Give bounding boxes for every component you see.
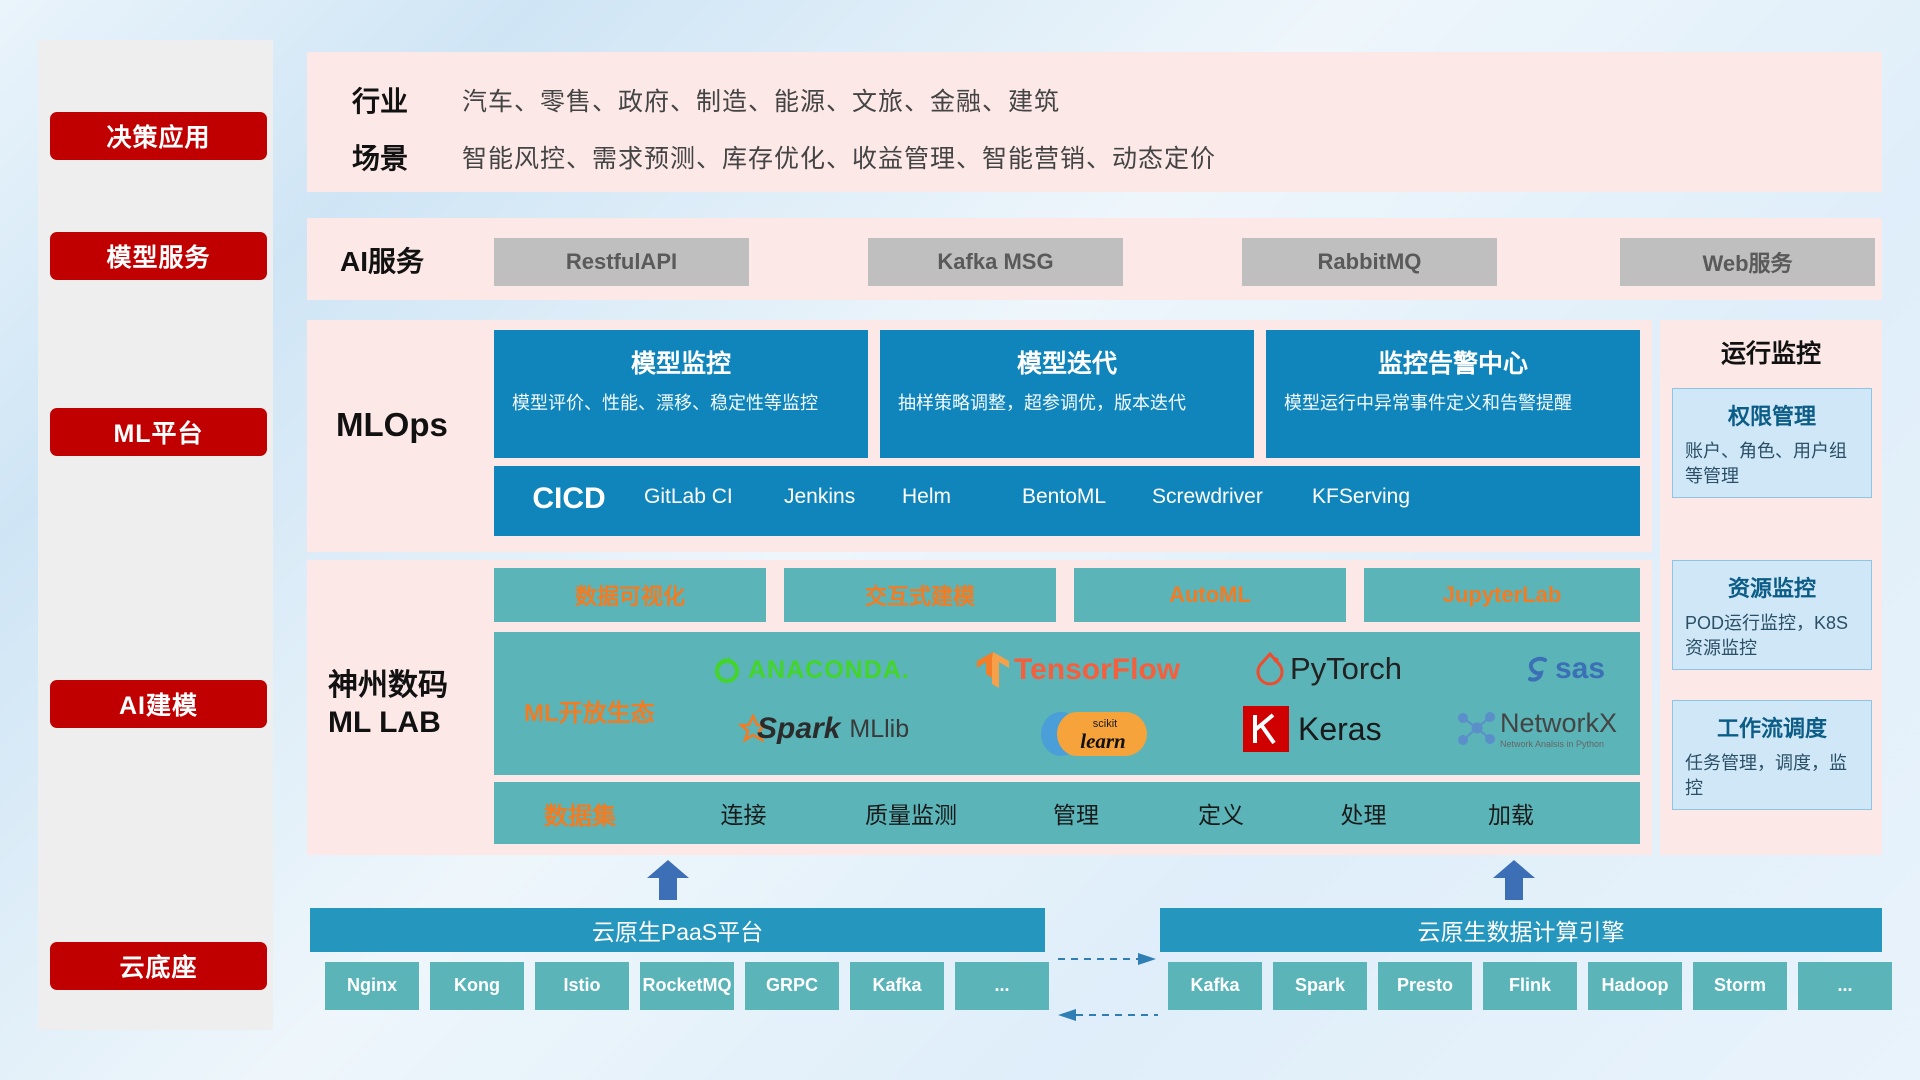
tab-label: 交互式建模 bbox=[865, 579, 975, 611]
rail-tag-ai-modeling[interactable]: AI建模 bbox=[50, 680, 267, 728]
dataset-item-process[interactable]: 处理 bbox=[1291, 796, 1436, 830]
chip-label: RabbitMQ bbox=[1318, 249, 1422, 275]
card-title: 权限管理 bbox=[1685, 399, 1859, 431]
cloud-bar-data-engine[interactable]: 云原生数据计算引擎 bbox=[1160, 908, 1882, 952]
card-desc: POD运行监控，K8S资源监控 bbox=[1685, 611, 1859, 661]
tab-label: 数据可视化 bbox=[575, 579, 685, 611]
tab-label: JupyterLab bbox=[1443, 582, 1562, 608]
chip-label: Presto bbox=[1397, 976, 1453, 996]
mlops-card-alert-center[interactable]: 监控告警中心 模型运行中异常事件定义和告警提醒 bbox=[1266, 330, 1640, 458]
ml-lab-label-line1: 神州数码 bbox=[328, 668, 448, 705]
chip-rabbitmq[interactable]: RabbitMQ bbox=[1242, 238, 1497, 286]
chip-label: RestfulAPI bbox=[566, 249, 677, 275]
cicd-item-gitlab-ci[interactable]: GitLab CI bbox=[644, 466, 784, 509]
sas-icon bbox=[1520, 652, 1554, 686]
networkx-tagline: Network Analsis in Python bbox=[1500, 740, 1617, 749]
card-desc: 抽样策略调整，超参调优，版本迭代 bbox=[898, 390, 1236, 416]
networkx-icon bbox=[1455, 708, 1497, 750]
monitoring-card-workflow[interactable]: 工作流调度 任务管理，调度，监控 bbox=[1672, 700, 1872, 810]
tensorflow-logo-text: TensorFlow bbox=[1014, 653, 1180, 687]
card-title: 模型监控 bbox=[512, 344, 850, 380]
keras-logo-text: Keras bbox=[1298, 711, 1382, 748]
pytorch-logo-text: PyTorch bbox=[1290, 651, 1402, 687]
sas-logo-text: sas bbox=[1555, 652, 1605, 686]
dataset-strip: 数据集 连接 质量监测 管理 定义 处理 加载 bbox=[494, 782, 1640, 844]
tensorflow-icon bbox=[975, 650, 1011, 690]
chip-label: Nginx bbox=[347, 976, 397, 996]
chip-label: Kafka bbox=[1190, 976, 1239, 996]
svg-text:learn: learn bbox=[1080, 729, 1126, 753]
cicd-bar: CICD GitLab CI Jenkins Helm BentoML Scre… bbox=[494, 466, 1640, 536]
scikit-learn-logo: scikit learn bbox=[1035, 706, 1165, 758]
rail-tag-decision-app[interactable]: 决策应用 bbox=[50, 112, 267, 160]
chip-label: Spark bbox=[1295, 976, 1345, 996]
rail-tag-label: 决策应用 bbox=[106, 118, 210, 154]
cloud-chip-kong[interactable]: Kong bbox=[430, 962, 524, 1010]
spark-mllib-logo: Spark MLlib bbox=[735, 712, 909, 746]
chip-label: Kong bbox=[454, 976, 500, 996]
dataset-item-load[interactable]: 加载 bbox=[1436, 796, 1586, 830]
card-title: 工作流调度 bbox=[1685, 711, 1859, 743]
chip-label: Web服务 bbox=[1702, 246, 1792, 278]
card-title: 模型迭代 bbox=[898, 344, 1236, 380]
chip-label: Hadoop bbox=[1602, 976, 1669, 996]
tab-interactive-modeling[interactable]: 交互式建模 bbox=[784, 568, 1056, 622]
chip-label: ... bbox=[1837, 976, 1852, 996]
dataset-item-quality[interactable]: 质量监测 bbox=[821, 796, 1001, 830]
rail-tag-label: ML平台 bbox=[113, 414, 203, 450]
scikit-learn-icon: scikit learn bbox=[1035, 706, 1165, 758]
card-title: 监控告警中心 bbox=[1284, 344, 1622, 380]
architecture-diagram: 决策应用 模型服务 ML平台 AI建模 云底座 行业 汽车、零售、政府、制造、能… bbox=[0, 0, 1920, 1080]
dataset-label: 数据集 bbox=[494, 796, 666, 831]
networkx-logo-text: NetworkX bbox=[1500, 710, 1617, 737]
chip-label: Istio bbox=[563, 976, 600, 996]
dataset-item-manage[interactable]: 管理 bbox=[1001, 796, 1151, 830]
monitoring-card-permission[interactable]: 权限管理 账户、角色、用户组等管理 bbox=[1672, 388, 1872, 498]
cloud-chip-kafka-left[interactable]: Kafka bbox=[850, 962, 944, 1010]
card-desc: 模型运行中异常事件定义和告警提醒 bbox=[1284, 390, 1622, 416]
cloud-bar-label: 云原生数据计算引擎 bbox=[1418, 913, 1625, 947]
card-desc: 模型评价、性能、漂移、稳定性等监控 bbox=[512, 390, 850, 416]
arrow-up-data-engine bbox=[1493, 860, 1535, 900]
cicd-title: CICD bbox=[494, 466, 644, 516]
card-title: 资源监控 bbox=[1685, 571, 1859, 603]
cloud-chip-spark[interactable]: Spark bbox=[1273, 962, 1367, 1010]
rail-tag-cloud-base[interactable]: 云底座 bbox=[50, 942, 267, 990]
cloud-chip-nginx[interactable]: Nginx bbox=[325, 962, 419, 1010]
monitoring-title: 运行监控 bbox=[1660, 334, 1882, 370]
rail-tag-ml-platform[interactable]: ML平台 bbox=[50, 408, 267, 456]
monitoring-card-resource[interactable]: 资源监控 POD运行监控，K8S资源监控 bbox=[1672, 560, 1872, 670]
rail-tag-model-service[interactable]: 模型服务 bbox=[50, 232, 267, 280]
tab-automl[interactable]: AutoML bbox=[1074, 568, 1346, 622]
cloud-chip-more-right[interactable]: ... bbox=[1798, 962, 1892, 1010]
tab-data-visualization[interactable]: 数据可视化 bbox=[494, 568, 766, 622]
mlops-card-model-monitoring[interactable]: 模型监控 模型评价、性能、漂移、稳定性等监控 bbox=[494, 330, 868, 458]
cloud-chip-hadoop[interactable]: Hadoop bbox=[1588, 962, 1682, 1010]
ai-service-label: AI服务 bbox=[340, 238, 490, 282]
arrow-up-paas bbox=[647, 860, 689, 900]
mlops-label: MLOps bbox=[336, 400, 496, 450]
industry-value: 汽车、零售、政府、制造、能源、文旅、金融、建筑 bbox=[462, 82, 1060, 118]
scenario-row: 场景 智能风控、需求预测、库存优化、收益管理、智能营销、动态定价 bbox=[352, 137, 1216, 177]
ml-lab-label: 神州数码 ML LAB bbox=[328, 668, 448, 741]
anaconda-logo: ANACONDA. bbox=[712, 655, 910, 685]
scenario-value: 智能风控、需求预测、库存优化、收益管理、智能营销、动态定价 bbox=[462, 139, 1216, 175]
mlops-card-model-iteration[interactable]: 模型迭代 抽样策略调整，超参调优，版本迭代 bbox=[880, 330, 1254, 458]
cloud-chip-storm[interactable]: Storm bbox=[1693, 962, 1787, 1010]
cloud-bar-paas[interactable]: 云原生PaaS平台 bbox=[310, 908, 1045, 952]
keras-icon bbox=[1243, 706, 1289, 752]
keras-logo: Keras bbox=[1243, 706, 1382, 752]
cicd-item-jenkins[interactable]: Jenkins bbox=[784, 466, 902, 509]
dataset-item-define[interactable]: 定义 bbox=[1151, 796, 1291, 830]
ml-lab-label-line2: ML LAB bbox=[328, 705, 448, 742]
cloud-chip-grpc[interactable]: GRPC bbox=[745, 962, 839, 1010]
chip-label: RocketMQ bbox=[642, 976, 731, 996]
tab-label: AutoML bbox=[1169, 582, 1251, 608]
cicd-item-bentoml[interactable]: BentoML bbox=[1022, 466, 1152, 509]
chip-label: Flink bbox=[1509, 976, 1551, 996]
chip-restful-api[interactable]: RestfulAPI bbox=[494, 238, 749, 286]
chip-label: Kafka bbox=[872, 976, 921, 996]
rail-tag-label: 云底座 bbox=[119, 948, 197, 984]
chip-label: Kafka MSG bbox=[937, 249, 1053, 275]
dataset-item-connect[interactable]: 连接 bbox=[666, 796, 821, 830]
chip-label: ... bbox=[994, 976, 1009, 996]
cloud-chip-kafka-right[interactable]: Kafka bbox=[1168, 962, 1262, 1010]
anaconda-icon bbox=[712, 655, 742, 685]
sas-logo: sas bbox=[1520, 652, 1605, 686]
industry-key: 行业 bbox=[352, 80, 462, 120]
cloud-chip-flink[interactable]: Flink bbox=[1483, 962, 1577, 1010]
dashed-arrow-left bbox=[1058, 1008, 1158, 1022]
chip-web-service[interactable]: Web服务 bbox=[1620, 238, 1875, 286]
cloud-chip-istio[interactable]: Istio bbox=[535, 962, 629, 1010]
anaconda-logo-text: ANACONDA. bbox=[748, 656, 910, 685]
card-desc: 任务管理，调度，监控 bbox=[1685, 751, 1859, 801]
left-rail bbox=[38, 40, 273, 1030]
industry-row: 行业 汽车、零售、政府、制造、能源、文旅、金融、建筑 bbox=[352, 80, 1060, 120]
pytorch-icon bbox=[1255, 650, 1285, 688]
chip-kafka-msg[interactable]: Kafka MSG bbox=[868, 238, 1123, 286]
scenario-key: 场景 bbox=[352, 137, 462, 177]
cloud-chip-presto[interactable]: Presto bbox=[1378, 962, 1472, 1010]
cicd-item-kfserving[interactable]: KFServing bbox=[1312, 466, 1462, 509]
spark-logo-text: Spark bbox=[757, 712, 840, 746]
rail-tag-label: AI建模 bbox=[119, 686, 198, 722]
chip-label: GRPC bbox=[766, 976, 818, 996]
dashed-arrow-right bbox=[1058, 952, 1158, 966]
rail-tag-label: 模型服务 bbox=[106, 238, 210, 274]
networkx-logo: NetworkX Network Analsis in Python bbox=[1455, 708, 1617, 750]
card-desc: 账户、角色、用户组等管理 bbox=[1685, 439, 1859, 489]
cicd-item-screwdriver[interactable]: Screwdriver bbox=[1152, 466, 1312, 509]
cloud-chip-more-left[interactable]: ... bbox=[955, 962, 1049, 1010]
tensorflow-logo: TensorFlow bbox=[975, 650, 1180, 690]
tab-jupyterlab[interactable]: JupyterLab bbox=[1364, 568, 1640, 622]
pytorch-logo: PyTorch bbox=[1255, 650, 1402, 688]
cloud-bar-label: 云原生PaaS平台 bbox=[592, 913, 763, 947]
chip-label: Storm bbox=[1714, 976, 1766, 996]
cloud-chip-rocketmq[interactable]: RocketMQ bbox=[640, 962, 734, 1010]
mllib-logo-text: MLlib bbox=[849, 715, 909, 744]
ml-open-ecosystem-label: ML开放生态 bbox=[524, 693, 655, 728]
cicd-item-helm[interactable]: Helm bbox=[902, 466, 1022, 509]
